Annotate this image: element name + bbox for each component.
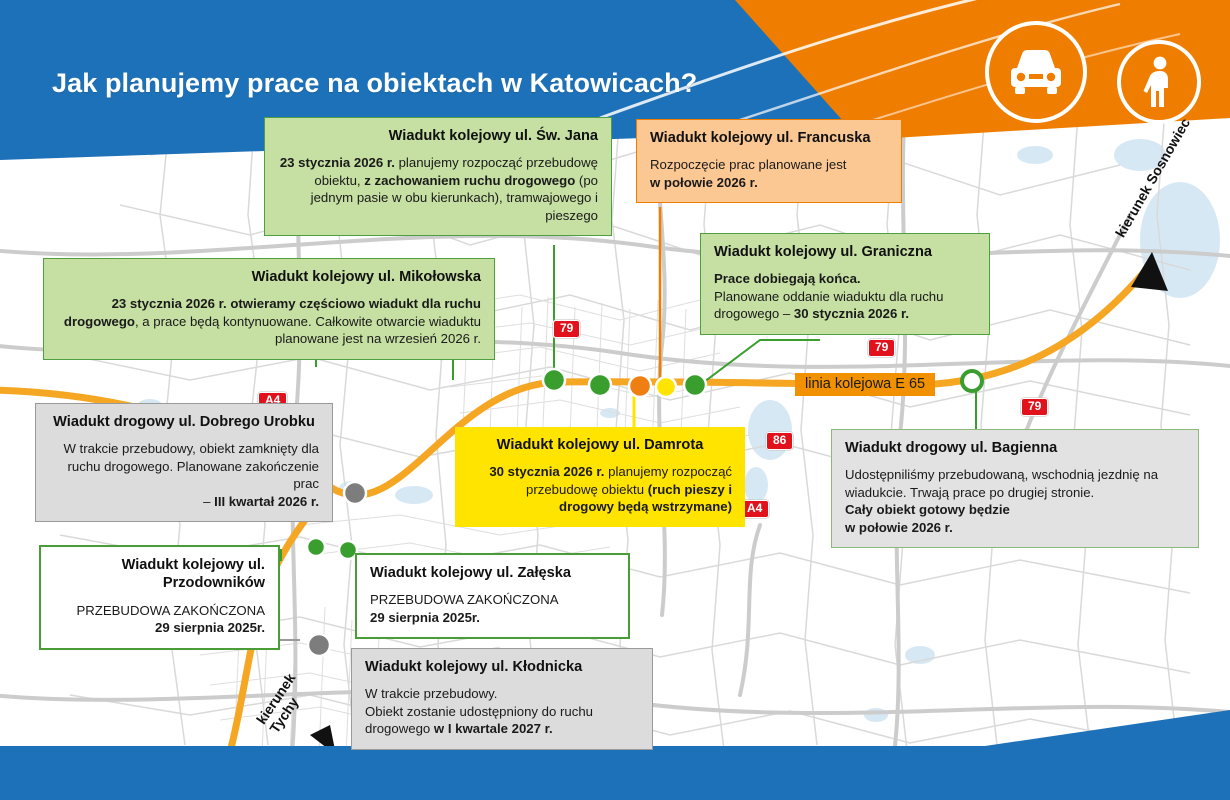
info-box-body: W trakcie przebudowy.Obiekt zostanie udo… xyxy=(365,685,639,737)
marker-swjana xyxy=(589,374,611,396)
pedestrian-glyph xyxy=(1139,55,1179,109)
info-box-body: PRZEBUDOWA ZAKOŃCZONA29 sierpnia 2025r. xyxy=(54,602,265,637)
rail-line-label: linia kolejowa E 65 xyxy=(795,373,935,396)
marker-urobku xyxy=(344,482,366,504)
info-box-bagienna[interactable]: Wiadukt drogowy ul. Bagienna Udostępnili… xyxy=(831,429,1199,548)
info-box-title: Wiadukt kolejowy ul. Św. Jana xyxy=(278,127,598,145)
info-box-mikolowska[interactable]: Wiadukt kolejowy ul. Mikołowska 23 stycz… xyxy=(43,258,495,360)
road-shield-79-north: 79 xyxy=(553,320,580,338)
info-box-damrota[interactable]: Wiadukt kolejowy ul. Damrota 30 stycznia… xyxy=(455,427,745,527)
info-box-sw-jana[interactable]: Wiadukt kolejowy ul. Św. Jana 23 styczni… xyxy=(264,117,612,236)
car-glyph xyxy=(1005,46,1067,98)
marker-klodnicka xyxy=(308,634,330,656)
info-box-body: 23 stycznia 2026 r. otwieramy częściowo … xyxy=(57,295,481,347)
info-box-title: Wiadukt kolejowy ul. Graniczna xyxy=(714,243,976,261)
info-box-body: 23 stycznia 2026 r. planujemy rozpocząć … xyxy=(278,154,598,224)
marker-mikolowska xyxy=(543,369,565,391)
info-box-title: Wiadukt kolejowy ul. Kłodnicka xyxy=(365,658,639,676)
pedestrian-icon xyxy=(1117,40,1201,124)
infographic-canvas: Jak planujemy prace na obiektach w Katow… xyxy=(0,0,1230,800)
info-box-body: Rozpoczęcie prac planowane jestw połowie… xyxy=(650,156,888,191)
info-box-body: PRZEBUDOWA ZAKOŃCZONA29 sierpnia 2025r. xyxy=(370,591,615,626)
marker-przodownikow xyxy=(307,538,325,556)
road-shield-79-southeast: 79 xyxy=(1021,398,1048,416)
page-title: Jak planujemy prace na obiektach w Katow… xyxy=(52,68,697,99)
car-icon xyxy=(985,21,1087,123)
info-box-body: 30 stycznia 2026 r. planujemy rozpocząć … xyxy=(468,463,732,515)
info-box-body: Udostępniliśmy przebudowaną, wschodnią j… xyxy=(845,466,1185,536)
info-box-title: Wiadukt kolejowy ul. Damrota xyxy=(468,436,732,454)
road-shield-79-east: 79 xyxy=(868,339,895,357)
road-shield-86: 86 xyxy=(766,432,793,450)
info-box-przodownikow[interactable]: Wiadukt kolejowy ul. Przodowników PRZEBU… xyxy=(39,545,280,650)
marker-bagienna xyxy=(962,371,982,391)
info-box-francuska[interactable]: Wiadukt kolejowy ul. Francuska Rozpoczęc… xyxy=(636,119,902,203)
info-box-zaleska[interactable]: Wiadukt kolejowy ul. Załęska PRZEBUDOWA … xyxy=(355,553,630,639)
info-box-title: Wiadukt kolejowy ul. Przodowników xyxy=(54,556,265,593)
marker-damrota xyxy=(629,375,651,397)
info-box-klodnicka[interactable]: Wiadukt kolejowy ul. Kłodnicka W trakcie… xyxy=(351,648,653,750)
info-box-title: Wiadukt kolejowy ul. Mikołowska xyxy=(57,268,481,286)
info-box-title: Wiadukt drogowy ul. Bagienna xyxy=(845,439,1185,457)
marker-graniczna xyxy=(684,374,706,396)
info-box-title: Wiadukt kolejowy ul. Załęska xyxy=(370,564,615,582)
info-box-dobrego-urobku[interactable]: Wiadukt drogowy ul. Dobrego Urobku W tra… xyxy=(35,403,333,522)
info-box-title: Wiadukt kolejowy ul. Francuska xyxy=(650,129,888,147)
marker-francuska xyxy=(656,377,676,397)
info-box-body: Prace dobiegają końca.Planowane oddanie … xyxy=(714,270,976,322)
info-box-body: W trakcie przebudowy, obiekt zamknięty d… xyxy=(49,440,319,510)
info-box-graniczna[interactable]: Wiadukt kolejowy ul. Graniczna Prace dob… xyxy=(700,233,990,335)
info-box-title: Wiadukt drogowy ul. Dobrego Urobku xyxy=(49,413,319,431)
